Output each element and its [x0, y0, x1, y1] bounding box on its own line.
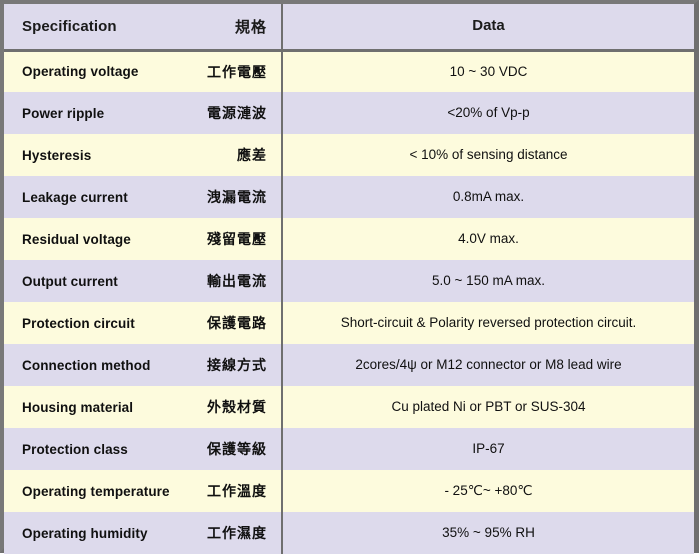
- spec-cell: Operating temperature工作溫度: [4, 470, 282, 512]
- data-value: 5.0 ~ 150 mA max.: [432, 273, 545, 288]
- table-row: Power ripple電源漣波<20% of Vp-p: [4, 92, 694, 134]
- header-label-specification-zh: 規格: [235, 16, 267, 37]
- data-cell: 10 ~ 30 VDC: [282, 50, 694, 92]
- spec-label-zh: 工作電壓: [199, 62, 267, 82]
- data-value: - 25℃~ +80℃: [444, 483, 532, 498]
- data-value: 10 ~ 30 VDC: [450, 64, 528, 79]
- spec-cell: Protection class保護等級: [4, 428, 282, 470]
- header-label-data: Data: [472, 17, 505, 34]
- table-row: Operating voltage工作電壓10 ~ 30 VDC: [4, 50, 694, 92]
- spec-label-en: Connection method: [22, 358, 150, 373]
- table-row: Housing material外殼材質Cu plated Ni or PBT …: [4, 386, 694, 428]
- spec-label-zh: 電源漣波: [199, 103, 267, 123]
- spec-label-en: Operating humidity: [22, 526, 148, 541]
- spec-label-zh: 殘留電壓: [199, 229, 267, 249]
- data-cell: 2cores/4ψ or M12 connector or M8 lead wi…: [282, 344, 694, 386]
- specification-table: Specification 規格 Data Operating voltage工…: [4, 4, 694, 554]
- table-row: Leakage current洩漏電流0.8mA max.: [4, 176, 694, 218]
- table-header: Specification 規格 Data: [4, 4, 694, 50]
- spec-label-en: Protection class: [22, 442, 128, 457]
- spec-label-zh: 接線方式: [199, 355, 267, 375]
- spec-label-zh: 外殼材質: [199, 397, 267, 417]
- spec-label-en: Hysteresis: [22, 148, 91, 163]
- spec-label-en: Operating voltage: [22, 64, 138, 79]
- header-label-specification-en: Specification: [22, 18, 117, 35]
- spec-cell: Hysteresis應差: [4, 134, 282, 176]
- table-header-row: Specification 規格 Data: [4, 4, 694, 50]
- data-cell: 0.8mA max.: [282, 176, 694, 218]
- data-cell: - 25℃~ +80℃: [282, 470, 694, 512]
- data-value: IP-67: [472, 441, 504, 456]
- spec-label-en: Housing material: [22, 400, 133, 415]
- table-row: Operating humidity工作濕度35% ~ 95% RH: [4, 512, 694, 554]
- spec-cell: Leakage current洩漏電流: [4, 176, 282, 218]
- spec-label-en: Residual voltage: [22, 232, 131, 247]
- data-value: < 10% of sensing distance: [410, 147, 568, 162]
- spec-cell: Power ripple電源漣波: [4, 92, 282, 134]
- spec-label-en: Power ripple: [22, 106, 104, 121]
- table-row: Connection method接線方式2cores/4ψ or M12 co…: [4, 344, 694, 386]
- data-cell: <20% of Vp-p: [282, 92, 694, 134]
- table-row: Hysteresis應差< 10% of sensing distance: [4, 134, 694, 176]
- spec-label-zh: 輸出電流: [199, 271, 267, 291]
- data-value: 0.8mA max.: [453, 189, 524, 204]
- table-body: Operating voltage工作電壓10 ~ 30 VDCPower ri…: [4, 50, 694, 554]
- data-cell: < 10% of sensing distance: [282, 134, 694, 176]
- spec-label-zh: 保護電路: [199, 313, 267, 333]
- data-value: <20% of Vp-p: [447, 105, 529, 120]
- spec-cell: Housing material外殼材質: [4, 386, 282, 428]
- data-value: 4.0V max.: [458, 231, 519, 246]
- spec-label-en: Leakage current: [22, 190, 128, 205]
- spec-label-en: Output current: [22, 274, 118, 289]
- spec-cell: Residual voltage殘留電壓: [4, 218, 282, 260]
- data-cell: Short-circuit & Polarity reversed protec…: [282, 302, 694, 344]
- spec-label-zh: 工作濕度: [199, 523, 267, 543]
- data-value: Short-circuit & Polarity reversed protec…: [341, 315, 637, 330]
- spec-label-en: Operating temperature: [22, 484, 170, 499]
- data-cell: IP-67: [282, 428, 694, 470]
- table-row: Protection circuit保護電路Short-circuit & Po…: [4, 302, 694, 344]
- spec-cell: Output current輸出電流: [4, 260, 282, 302]
- table-row: Operating temperature工作溫度- 25℃~ +80℃: [4, 470, 694, 512]
- table-row: Residual voltage殘留電壓4.0V max.: [4, 218, 694, 260]
- data-cell: 5.0 ~ 150 mA max.: [282, 260, 694, 302]
- spec-label-zh: 應差: [229, 145, 267, 165]
- data-cell: Cu plated Ni or PBT or SUS-304: [282, 386, 694, 428]
- spec-table-frame: Specification 規格 Data Operating voltage工…: [0, 0, 699, 553]
- spec-cell: Operating voltage工作電壓: [4, 50, 282, 92]
- spec-label-zh: 工作溫度: [199, 481, 267, 501]
- spec-label-zh: 洩漏電流: [199, 187, 267, 207]
- data-value: 2cores/4ψ or M12 connector or M8 lead wi…: [355, 357, 621, 372]
- spec-cell: Connection method接線方式: [4, 344, 282, 386]
- spec-cell: Operating humidity工作濕度: [4, 512, 282, 554]
- spec-label-en: Protection circuit: [22, 316, 135, 331]
- spec-label-zh: 保護等級: [199, 439, 267, 459]
- header-cell-data: Data: [282, 4, 694, 50]
- data-value: Cu plated Ni or PBT or SUS-304: [391, 399, 585, 414]
- data-value: 35% ~ 95% RH: [442, 525, 535, 540]
- spec-cell: Protection circuit保護電路: [4, 302, 282, 344]
- header-cell-specification: Specification 規格: [4, 4, 282, 50]
- data-cell: 4.0V max.: [282, 218, 694, 260]
- table-row: Output current輸出電流5.0 ~ 150 mA max.: [4, 260, 694, 302]
- table-row: Protection class保護等級IP-67: [4, 428, 694, 470]
- data-cell: 35% ~ 95% RH: [282, 512, 694, 554]
